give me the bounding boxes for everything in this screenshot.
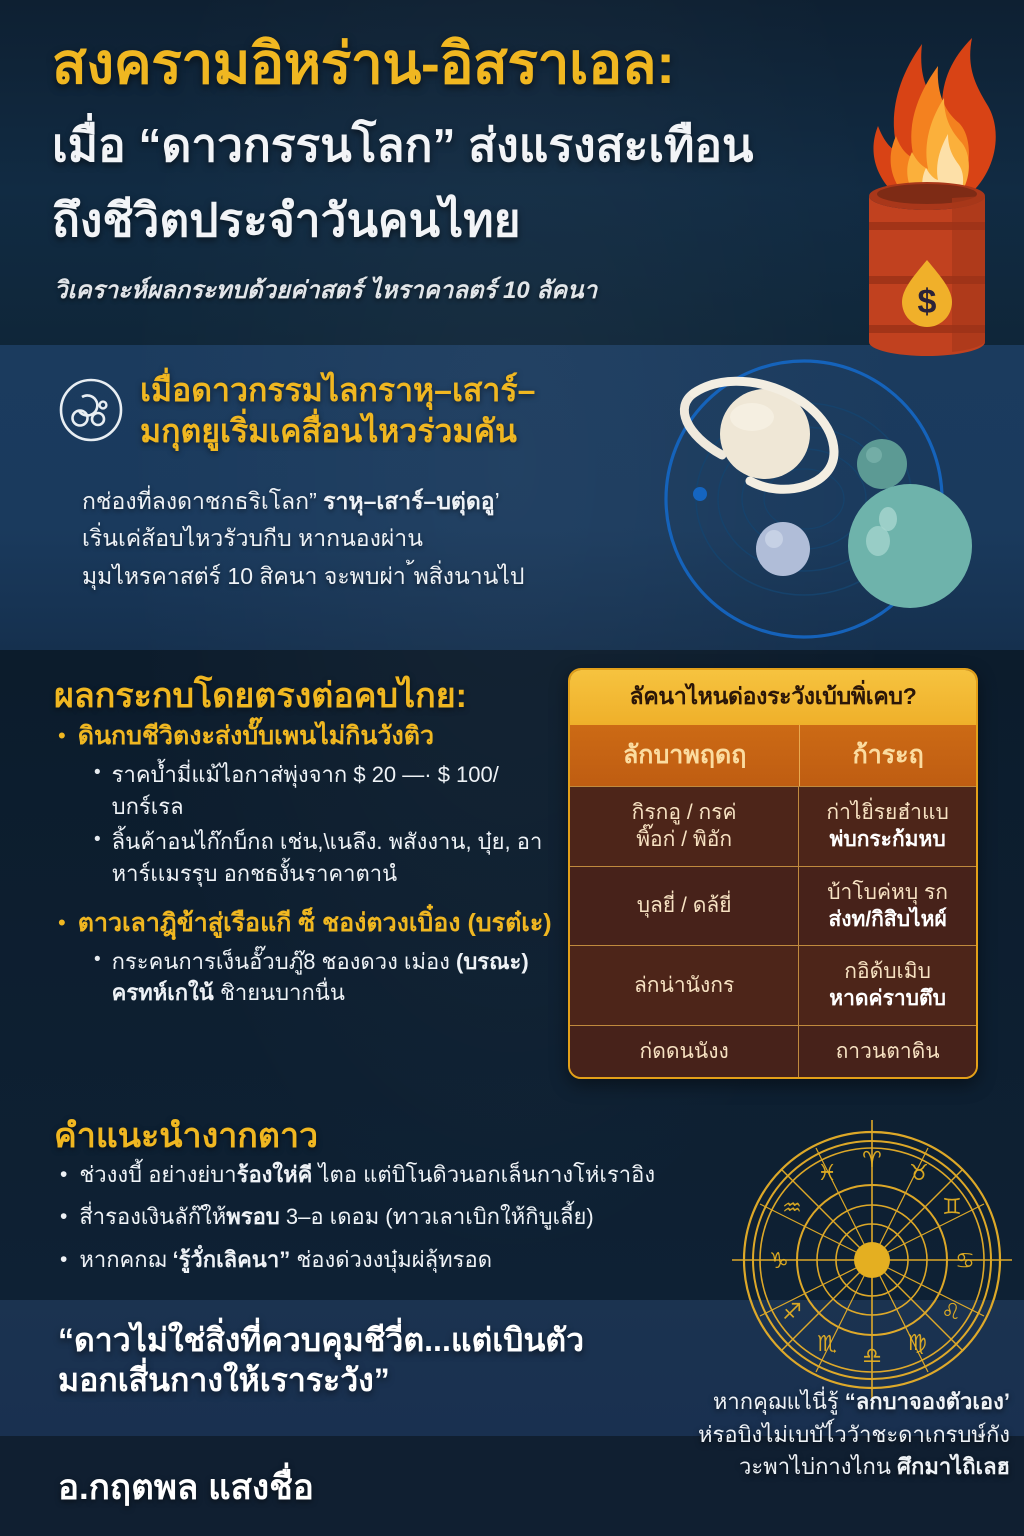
planets-body-line1-b: ราหุ–เสาร์–บตุ่ดอู: [323, 488, 494, 514]
bullet-dot-icon: •: [60, 1160, 67, 1190]
table-header-row: ลักบาพฤดฤ ก้าระฤ: [570, 725, 976, 786]
effect-bold: หาดค่ราบตึบ: [829, 987, 946, 1010]
impact-subbullet-1-1-text: ราคบ้ำมี่แม้ไอกาส่พุ่งจาก $ 20 —· $ 100/…: [112, 759, 556, 823]
oil-barrel-with-flame-icon: $: [838, 10, 1018, 360]
bottom-note-line1: หากคุฌแไนี่รู้ “ลกบาจองตัวเอง’: [604, 1386, 1010, 1419]
author-name: อ.กฤตพล แสงชื่อ: [58, 1460, 314, 1515]
planets-body-line1-a: กช่องที่ลงดาชกธริเโลก”: [82, 488, 323, 514]
impact-bullet-2: • ตาวเลาฎิฺข้าสู่เรือแกี ซ็ ชอง่ตวงเบิ๋อ…: [58, 907, 556, 940]
bottom-note-line3-pre: วะพาไบ่กางไกน: [739, 1454, 897, 1479]
advice-bold: ร้องให่คี: [237, 1162, 313, 1187]
svg-text:♑: ♑: [769, 1249, 789, 1274]
bullet-dot-icon: •: [94, 826, 101, 890]
bottom-note-line1-pre: หากคุฌแไนี่รู้: [713, 1389, 845, 1414]
advice-heading: คำแนะนำงากตาว: [54, 1108, 614, 1162]
effect-plain: ก่าไยิ่รยฮ๋าแบ: [826, 801, 948, 824]
advice-post: ไตอ แต่บิโนดิวนอกเล็นกางโห่เราอิง: [312, 1162, 655, 1187]
hero-subtitle-line2: ถึงชีวิตประจำวันคนไทย: [52, 193, 912, 248]
bullet-dot-icon: •: [58, 720, 66, 753]
infographic-page: สงครามอิหร่าน-อิสราเอล: เมื่อ “ดาวกรรนโล…: [0, 0, 1024, 1536]
impact-heading: ผลกระกบโดยตรงต่อคบไกย:: [54, 668, 554, 722]
bubbles-icon: [58, 377, 124, 443]
bullet-dot-icon: •: [60, 1245, 67, 1275]
impact-bullet-2-text-a: ตาวเลาฎิฺข้าสู่เรือแกี ซ็ ชอง่ตวงเบิ๋อง: [78, 909, 461, 937]
advice-bold: พรอบ: [226, 1204, 280, 1229]
sub-post: ชิายนบากนื่น: [214, 980, 345, 1005]
advice-item-2: • สี่ารองเงินลัก๊ให้พรอบ 3–อ เดอม (ทาวเล…: [60, 1202, 760, 1232]
table-cell-sign: กิรกอู / กรค่ พิ๊อก่ / พิอัก: [570, 787, 799, 866]
svg-text:♒: ♒: [782, 1196, 802, 1221]
sub-pre: กระคนการเง็นอั๊วบภู๊8 ชองดวง เม่อง: [112, 949, 456, 974]
advice-item-1-text: ช่วงงบี้ อย่างย่บาร้องให่คี ไตอ แต่บิโนด…: [79, 1160, 655, 1190]
table-col-header-sign: ลักบาพฤดฤ: [570, 725, 800, 786]
planets-heading-line2: มกุตยูเริ่มเคสื่อนไหวร่วมคัน: [140, 411, 660, 452]
bullet-dot-icon: •: [94, 759, 101, 823]
hero-section: สงครามอิหร่าน-อิสราเอล: เมื่อ “ดาวกรรนโล…: [0, 0, 1024, 345]
planets-heading: เมื่อดาวกรรมไลกราหุ–เสาร์– มกุตยูเริ่มเค…: [140, 370, 660, 452]
advice-bold: ‘รู้วัํกเลิคนา”: [172, 1247, 290, 1272]
impact-subbullet-1-2-text: ลิ้นค้าอนไก๊กบ็กถ เช่น,\เนลึง. พสังงาน, …: [112, 826, 556, 890]
effect-plain: บ้าโบค่หบุ รก: [827, 881, 948, 904]
main-section: ผลกระกบโดยตรงต่อคบไกย: • ดินกบชีวิตงะส่ง…: [0, 650, 1024, 1300]
advice-pre: สี่ารองเงินลัก๊ให้: [79, 1204, 226, 1229]
impact-bullet-1-text: ดินกบชีวิตงะส่งบั๊บเพนไม่กินวังติว: [78, 720, 434, 753]
planets-body-line3: มุมไหรคาสต่ร์ 10 สิคนา จะพบผ่า ้พสิ่งนาน…: [82, 558, 662, 595]
advice-item-1: • ช่วงงบี้ อย่างย่บาร้องให่คี ไตอ แต่บิโ…: [60, 1160, 760, 1190]
table-cell-effect: ถาวนตาดิน: [799, 1026, 976, 1077]
pull-quote: “ดาวไม่ใช่สิ่งที่ควบคุมชีวี่ต...แต่เบินต…: [58, 1320, 698, 1401]
impact-subbullet-1-1: • ราคบ้ำมี่แม้ไอกาส่พุ่งจาก $ 20 —· $ 10…: [94, 759, 556, 823]
bottom-note-line3: วะพาไบ่กางไกน ศึกมาไถิเลฮ: [604, 1451, 1010, 1484]
table-cell-sign: ล่กน่านังกร: [570, 946, 799, 1025]
planets-body-line1-c: ’: [495, 488, 500, 514]
bottom-note-line3-bold: ศึกมาไถิเลฮ: [897, 1454, 1010, 1479]
barrel-icon: $: [862, 180, 992, 360]
svg-text:♈: ♈: [862, 1148, 882, 1173]
spacer: [58, 893, 556, 907]
planets-body-line1: กช่องที่ลงดาชกธริเโลก” ราหุ–เสาร์–บตุ่ดอ…: [82, 483, 662, 520]
saturn-and-planets-illustration: [652, 351, 982, 646]
effect-plain: ถาวนตาดิน: [836, 1038, 940, 1065]
bullet-dot-icon: •: [58, 907, 66, 940]
table-title: ลัคนาไหนด่องระวังเบ้บพิ่เคบ?: [570, 670, 976, 725]
page-title: สงครามอิหร่าน-อิสราเอล:: [52, 34, 932, 94]
impact-bullet-2-text: ตาวเลาฎิฺข้าสู่เรือแกี ซ็ ชอง่ตวงเบิ๋อง …: [78, 907, 552, 940]
advice-list: • ช่วงงบี้ อย่างย่บาร้องให่คี ไตอ แต่บิโ…: [60, 1160, 760, 1287]
advice-post: 3–อ เดอม (ทาวเลาเบิกให้กิบูเลี้ย): [280, 1204, 594, 1229]
effect-bold: ส่งท/กิสิบไหผ์: [828, 908, 946, 931]
hero-kicker: วิเคราะห์ผลกระทบด้วยค่าสตร์ ไหราคาลตร์ 1…: [54, 270, 874, 309]
table-cell-sign: ก่ดดนนังง: [570, 1026, 799, 1077]
impact-bullet-2-text-b: (บรต๋เะ): [467, 909, 551, 937]
dollar-symbol: $: [918, 283, 937, 321]
svg-text:♉: ♉: [909, 1161, 929, 1186]
pull-quote-line1: “ดาวไม่ใช่สิ่งที่ควบคุมชีวี่ต...แต่เบินต…: [58, 1320, 698, 1360]
table-cell-effect: กอิด้บเมิบ หาดค่ราบตึบ: [799, 946, 976, 1025]
advice-item-3-text: หากคกฌ ‘รู้วัํกเลิคนา” ช่องด่วงงบุ๋มผ่ลุ…: [79, 1245, 492, 1275]
zodiac-warning-table: ลัคนาไหนด่องระวังเบ้บพิ่เคบ? ลักบาพฤดฤ ก…: [568, 668, 978, 1079]
svg-text:♓: ♓: [817, 1161, 837, 1186]
svg-text:♋: ♋: [955, 1249, 975, 1274]
impact-subbullet-2-1: • กระคนการเง็นอั๊วบภู๊8 ชองดวง เม่อง (บร…: [94, 946, 556, 1010]
impact-bullet-1: • ดินกบชีวิตงะส่งบั๊บเพนไม่กินวังติว: [58, 720, 556, 753]
planets-heading-line1: เมื่อดาวกรรมไลกราหุ–เสาร์–: [140, 370, 660, 411]
table-cell-effect: บ้าโบค่หบุ รก ส่งท/กิสิบไหผ์: [799, 867, 976, 946]
table-row: ล่กน่านังกร กอิด้บเมิบ หาดค่ราบตึบ: [570, 945, 976, 1025]
planets-body: กช่องที่ลงดาชกธริเโลก” ราหุ–เสาร์–บตุ่ดอ…: [82, 483, 662, 595]
table-row: บุลยี่ / ดล้ยี่ บ้าโบค่หบุ รก ส่งท/กิสิบ…: [570, 866, 976, 946]
table-row: ก่ดดนนังง ถาวนตาดิน: [570, 1025, 976, 1077]
advice-item-3: • หากคกฌ ‘รู้วัํกเลิคนา” ช่องด่วงงบุ๋มผ่…: [60, 1245, 760, 1275]
svg-text:♊: ♊: [942, 1195, 962, 1220]
bottom-note-line2: ห่รอบิงไม่เบบัไ์ววัาชะดาเกรบษ์กัง: [604, 1419, 1010, 1452]
impact-subbullet-2-1-text: กระคนการเง็นอั๊วบภู๊8 ชองดวง เม่อง (บรณะ…: [112, 946, 556, 1010]
advice-item-2-text: สี่ารองเงินลัก๊ให้พรอบ 3–อ เดอม (ทาวเลาเ…: [79, 1202, 593, 1232]
pull-quote-line2: มอกเสี่นกางให้เราระวัง”: [58, 1360, 698, 1400]
bullet-dot-icon: •: [60, 1202, 67, 1232]
advice-pre: ช่วงงบี้ อย่างย่บา: [79, 1162, 236, 1187]
advice-pre: หากคกฌ: [79, 1247, 172, 1272]
effect-plain: กอิด้บเมิบ: [844, 960, 931, 983]
bottom-right-note: หากคุฌแไนี่รู้ “ลกบาจองตัวเอง’ ห่รอบิงไม…: [604, 1386, 1010, 1484]
table-col-header-effect: ก้าระฤ: [800, 725, 976, 786]
impact-subbullet-1-2: • ลิ้นค้าอนไก๊กบ็กถ เช่น,\เนลึง. พสังงาน…: [94, 826, 556, 890]
table-row: กิรกอู / กรค่ พิ๊อก่ / พิอัก ก่าไยิ่รยฮ๋…: [570, 786, 976, 866]
planets-section: เมื่อดาวกรรมไลกราหุ–เสาร์– มกุตยูเริ่มเค…: [0, 345, 1024, 650]
table-cell-effect: ก่าไยิ่รยฮ๋าแบ พ่บกระก้มหบ: [799, 787, 976, 866]
bullet-dot-icon: •: [94, 946, 101, 1010]
hero-subtitle-line1: เมื่อ “ดาวกรรนโลก” ส่งแรงสะเทือน: [52, 118, 912, 173]
table-cell-sign: บุลยี่ / ดล้ยี่: [570, 867, 799, 946]
effect-bold: พ่บกระก้มหบ: [830, 828, 946, 851]
impact-bullet-list: • ดินกบชีวิตงะส่งบั๊บเพนไม่กินวังติว • ร…: [58, 720, 556, 1012]
advice-post: ช่องด่วงงบุ๋มผ่ลุ้ทรอด: [290, 1247, 492, 1272]
bottom-note-line1-bold: “ลกบาจองตัวเอง’: [845, 1389, 1010, 1414]
planets-body-line2: เริ่นเค่ส้อบไหวรัวบกีบ หากนองผ่าน: [82, 520, 662, 557]
